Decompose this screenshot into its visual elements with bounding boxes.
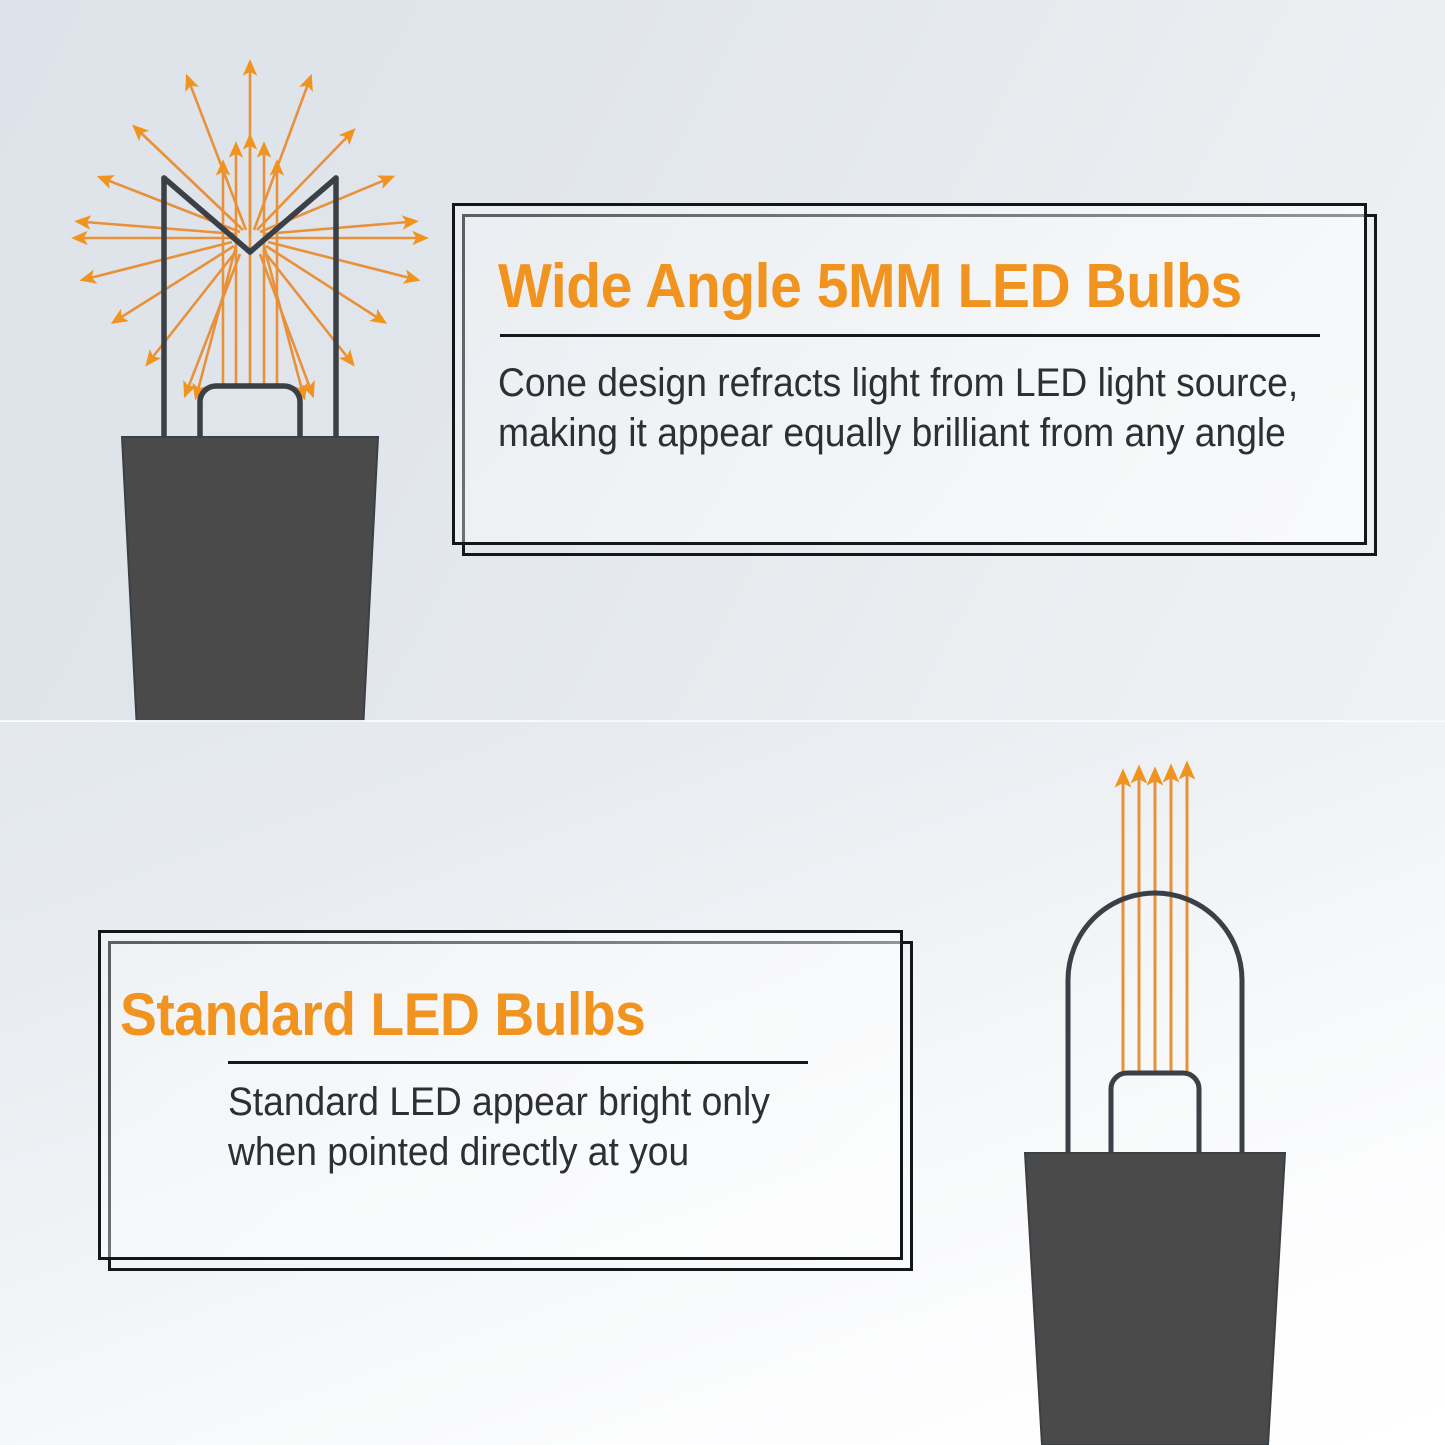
- led-chip-bridge: [1111, 1073, 1199, 1155]
- bulb-body: [1025, 1153, 1285, 1445]
- wide-angle-headline: Wide Angle 5MM LED Bulbs: [498, 255, 1255, 318]
- wide-angle-led-bulb-illustration: [60, 40, 440, 730]
- standard-led-bulb-illustration: [980, 755, 1330, 1445]
- body-line-1: Standard LED appear bright only: [228, 1078, 856, 1128]
- bulb-body: [122, 437, 378, 730]
- body-line-2: when pointed directly at you: [228, 1128, 856, 1178]
- wide-angle-callout-box: Wide Angle 5MM LED Bulbs Cone design ref…: [452, 203, 1367, 545]
- body-line-2: making it appear equally brilliant from …: [498, 409, 1263, 459]
- headline-divider-rule: [228, 1061, 808, 1064]
- wide-angle-body-text: Cone design refracts light from LED ligh…: [498, 359, 1263, 458]
- infographic-canvas: Wide Angle 5MM LED Bulbs Cone design ref…: [0, 0, 1445, 1445]
- body-line-1: Cone design refracts light from LED ligh…: [498, 359, 1263, 409]
- standard-body-text: Standard LED appear bright only when poi…: [228, 1078, 856, 1177]
- standard-callout-box: Standard LED Bulbs Standard LED appear b…: [98, 930, 903, 1260]
- led-chip-bridge: [200, 386, 300, 440]
- headline-divider-rule: [500, 334, 1320, 337]
- standard-headline: Standard LED Bulbs: [120, 984, 840, 1045]
- light-rays-parallel: [1123, 773, 1187, 1072]
